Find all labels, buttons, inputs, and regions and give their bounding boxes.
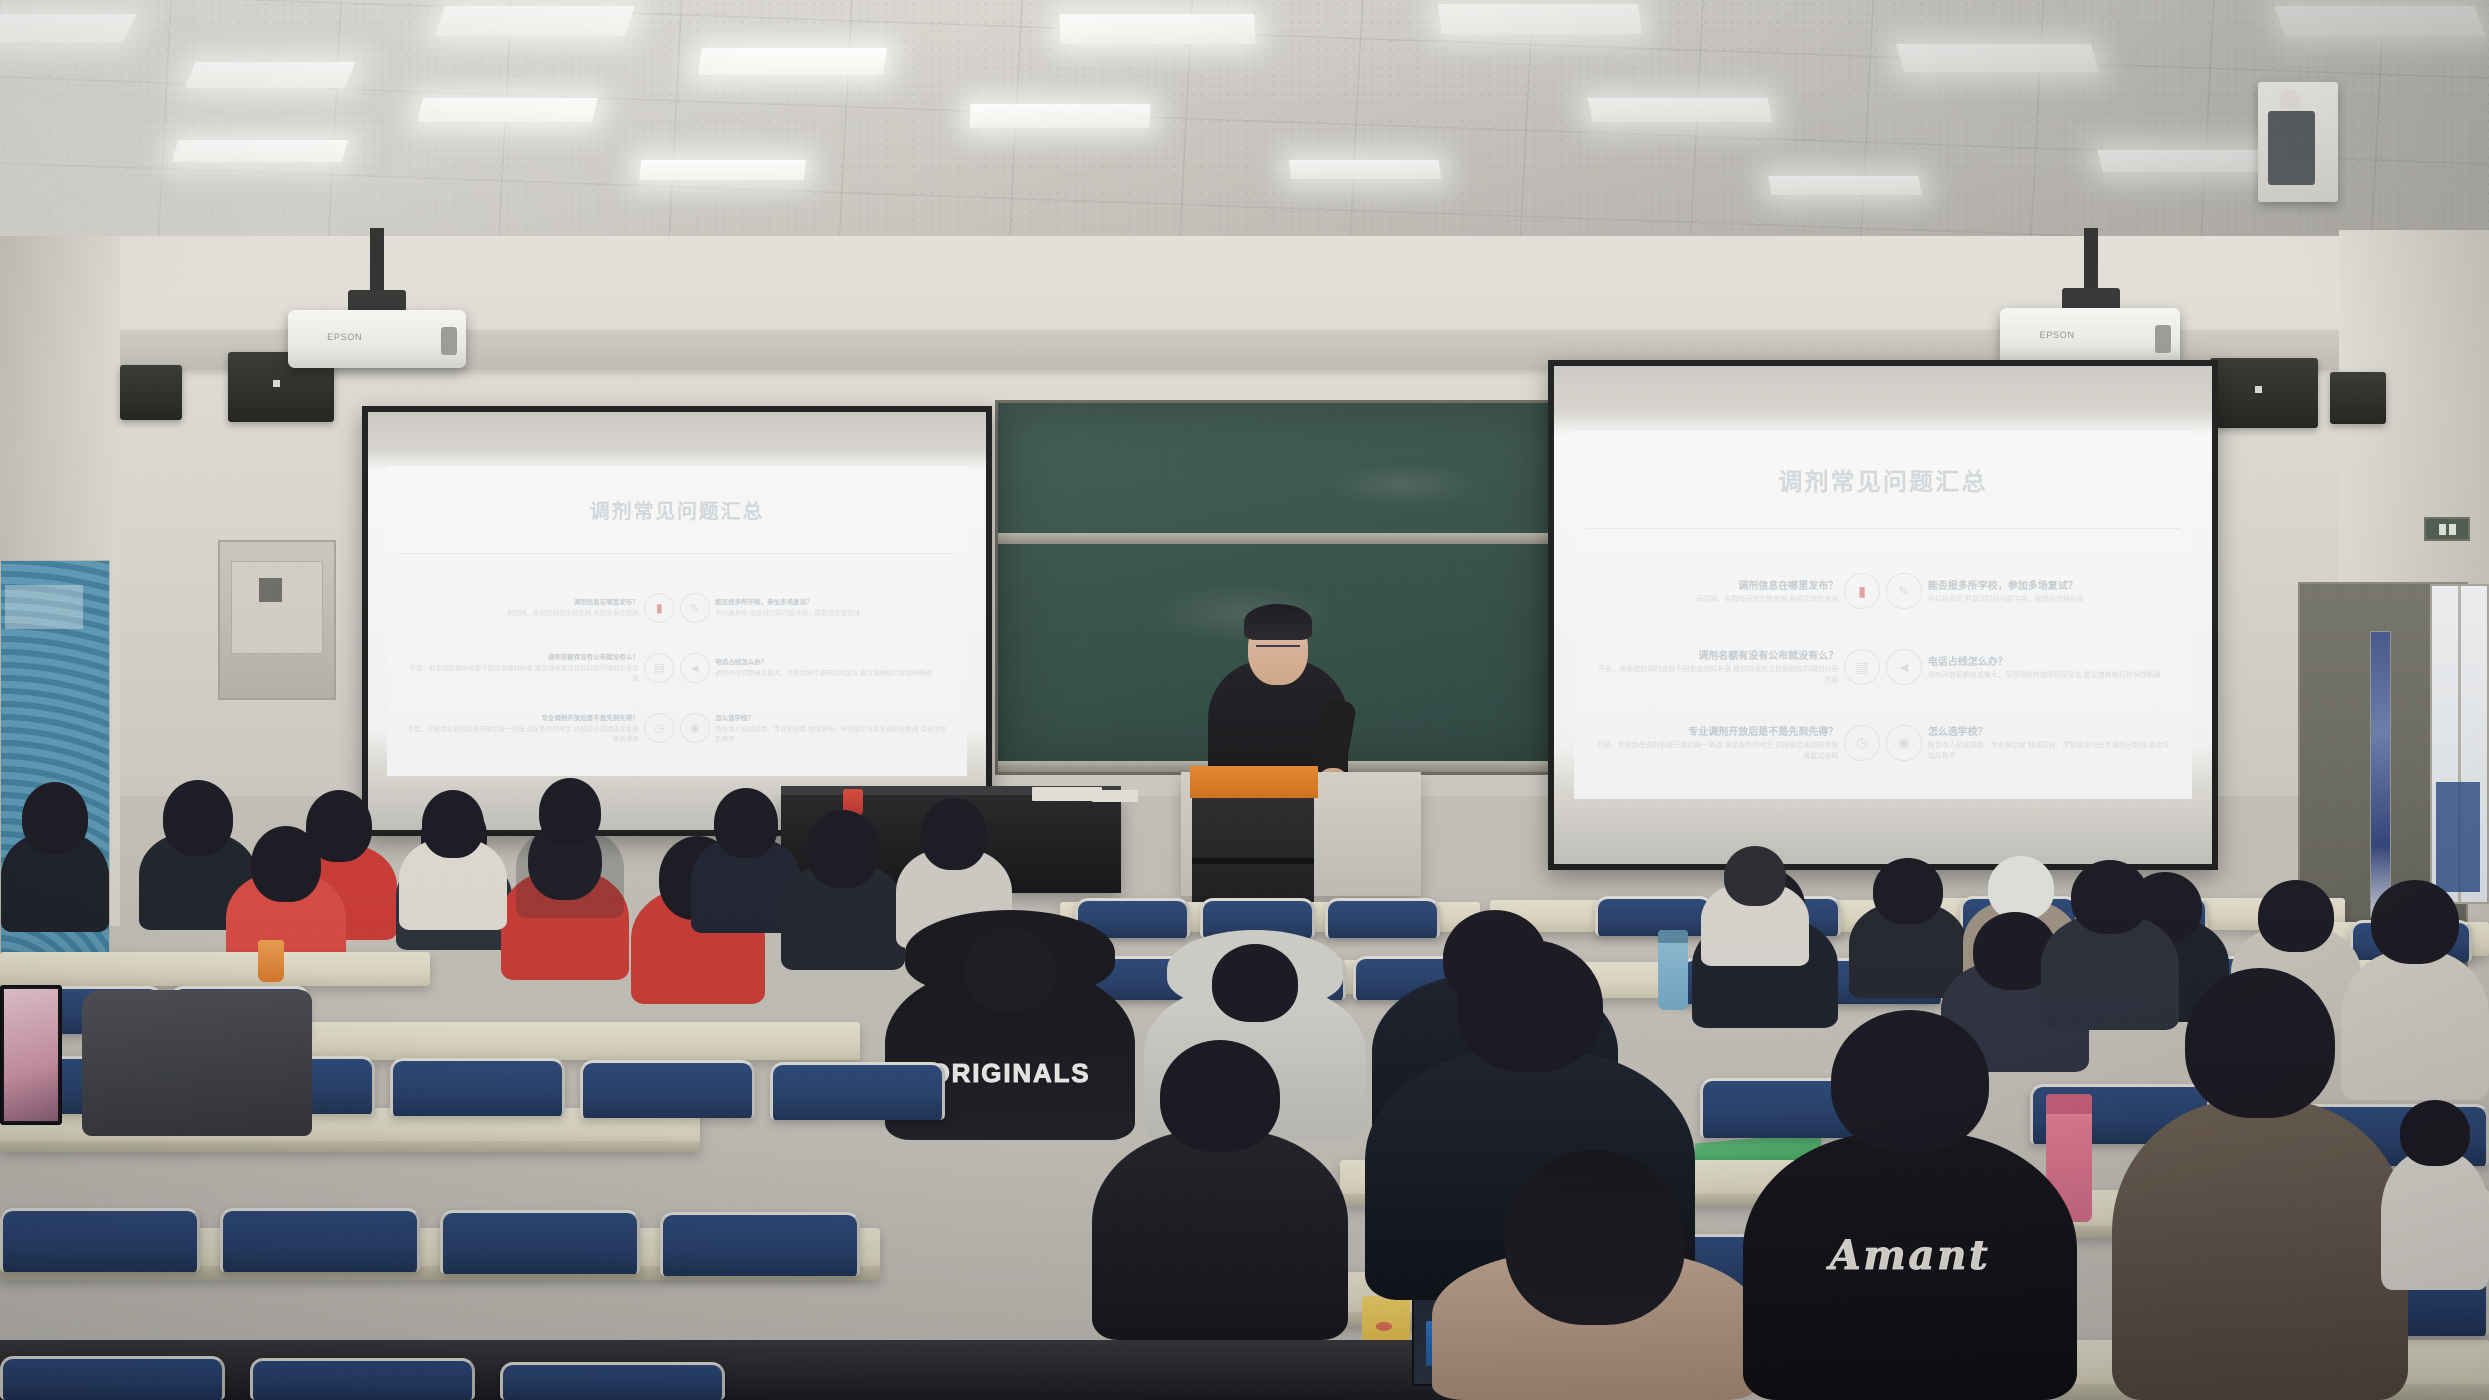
student-head xyxy=(22,782,88,854)
chair xyxy=(390,1058,565,1116)
projector-lens-icon xyxy=(441,327,457,355)
wall-speaker xyxy=(2330,372,2386,424)
tablet-screen xyxy=(4,989,58,1121)
speaker-led-icon xyxy=(2255,386,2262,393)
chalk-smudge xyxy=(1328,463,1478,507)
megaphone-icon: ◄ xyxy=(1886,649,1922,685)
question-title: 专业调剂开放后是不是先到先得？ xyxy=(404,712,639,722)
exit-sign xyxy=(2424,517,2470,541)
slide-left: 调剂常见问题汇总 调剂信息在哪里发布？ 研招网、各院校研究生院官网 各招生单位官… xyxy=(387,466,968,775)
clock-icon: ◷ xyxy=(644,713,674,743)
slide-question-grid: 调剂信息在哪里发布？ 研招网、各院校研究生院官网 各招生单位官网 ▮ ✎ 能否报… xyxy=(387,554,968,775)
student-head xyxy=(2185,968,2335,1118)
chalk-rail xyxy=(998,533,1552,544)
desk-edge xyxy=(0,1141,700,1152)
projector: EPSON xyxy=(2000,308,2180,366)
student-head xyxy=(1457,940,1603,1072)
chair xyxy=(0,1208,200,1272)
student-head xyxy=(163,780,233,856)
window-blue-object xyxy=(2436,782,2480,892)
question-title: 调剂信息在哪里发布？ xyxy=(1592,577,1838,592)
question-answer: 不是，学校会在调剂系统开放后统一筛选 满足条件的考生 并按综合成绩排序发放复试通… xyxy=(1592,741,1838,763)
question-answer: 不是，学校会在调剂系统开放后统一筛选 满足条件的考生 并按综合成绩排序发放复试通… xyxy=(404,725,639,745)
student xyxy=(1700,846,1810,966)
backpack xyxy=(82,990,312,1136)
presenter-glasses-icon xyxy=(1256,645,1300,647)
student-head xyxy=(251,826,321,902)
slide-question-item: 怎么选学校？ 结合本人初试成绩、专业契合度 地域意向、学校层次与往年调剂分数线 … xyxy=(715,712,950,745)
speech-icon: ✎ xyxy=(1886,573,1922,609)
projection-screen-left: 调剂常见问题汇总 调剂信息在哪里发布？ 研招网、各院校研究生院官网 各招生单位官… xyxy=(362,406,992,836)
question-answer: 调剂开放初期电话量大，可改用邮件或研招网留言 建议错峰拨打并保持畅通 xyxy=(715,669,950,679)
student-head xyxy=(2400,1100,2470,1166)
slide-question-item: 专业调剂开放后是不是先到先得？ 不是，学校会在调剂系统开放后统一筛选 满足条件的… xyxy=(1592,723,1838,763)
student-head xyxy=(1160,1040,1280,1152)
projector-lens-icon xyxy=(2155,325,2171,353)
student xyxy=(398,790,508,930)
chair xyxy=(250,1358,475,1400)
student-head xyxy=(964,928,1056,1012)
chair xyxy=(500,1362,725,1400)
student xyxy=(2040,860,2180,1030)
book-icon: ▤ xyxy=(644,653,674,683)
projector: EPSON xyxy=(288,310,466,368)
clock-icon: ◷ xyxy=(1844,725,1880,761)
slide-question-item: 调剂信息在哪里发布？ 研招网、各院校研究生院官网 各招生单位官网 xyxy=(1592,577,1838,606)
projector-mount-bracket xyxy=(2062,288,2120,310)
slide-question-grid: 调剂信息在哪里发布？ 研招网、各院校研究生院官网 各招生单位官网 ▮ ✎ 能否报… xyxy=(1574,529,2193,800)
slide-question-item: 电话占线怎么办？ 调剂开放初期电话量大，可改用邮件或研招网留言 建议错峰拨打并保… xyxy=(715,656,950,679)
slide-right: 调剂常见问题汇总 调剂信息在哪里发布？ 研招网、各院校研究生院官网 各招生单位官… xyxy=(1574,431,2193,800)
podium-accent-panel xyxy=(1190,766,1318,798)
question-title: 电话占线怎么办？ xyxy=(1928,653,2174,668)
podium-slot xyxy=(1192,858,1314,864)
projector-mount-pole xyxy=(2084,228,2098,294)
question-title: 能否报多所学校，参加多场复试？ xyxy=(715,596,950,606)
ceiling-camera xyxy=(2258,82,2338,202)
slide-question-item: 专业调剂开放后是不是先到先得？ 不是，学校会在调剂系统开放后统一筛选 满足条件的… xyxy=(404,712,639,745)
student xyxy=(515,778,625,918)
door-glass-panel xyxy=(2370,631,2392,918)
panel-inner xyxy=(231,561,322,655)
chair xyxy=(0,1356,225,1400)
projector-mount-pole xyxy=(370,228,384,296)
student-head xyxy=(1212,944,1298,1022)
student-head xyxy=(2071,860,2149,934)
screen-surface-right: 调剂常见问题汇总 调剂信息在哪里发布？ 研招网、各院校研究生院官网 各招生单位官… xyxy=(1554,366,2212,864)
slide-title: 调剂常见问题汇总 xyxy=(387,495,968,524)
snack-dot-icon xyxy=(1376,1322,1392,1331)
student xyxy=(2380,1100,2489,1290)
question-title: 电话占线怎么办？ xyxy=(715,656,950,666)
wall-speaker xyxy=(120,365,182,420)
question-answer: 不是，很多院校调剂名额不固定会随时补录 建议持续关注目标院校的调剂公告信息 xyxy=(404,664,639,684)
garment-text-originals: ORIGINALS xyxy=(930,1058,1091,1089)
panel-switch-icon xyxy=(259,578,282,602)
garment-text-amant: Amant xyxy=(1830,1232,1991,1279)
question-answer: 结合本人初试成绩、专业契合度 地域意向、学校层次与往年调剂分数线 综合评估后报考 xyxy=(1928,741,2174,763)
slide-question-item: 能否报多所学校，参加多场复试？ 可以报多所 但复试时间可能冲突，需提前合理安排 xyxy=(1928,577,2174,606)
student-torso xyxy=(2341,950,2489,1100)
chart-icon: ▮ xyxy=(644,593,674,623)
slide-question-item: 怎么选学校？ 结合本人初试成绩、专业契合度 地域意向、学校层次与往年调剂分数线 … xyxy=(1928,723,2174,763)
yellow-snack-box xyxy=(1362,1296,1410,1340)
student-head xyxy=(2258,880,2334,952)
student xyxy=(0,782,110,932)
student-head xyxy=(1505,1150,1685,1325)
question-title: 怎么选学校？ xyxy=(715,712,950,722)
podium-front-panel xyxy=(1192,798,1314,902)
exit-glyph-icon xyxy=(2449,524,2456,535)
question-answer: 结合本人初试成绩、专业契合度 地域意向、学校层次与往年调剂分数线 综合评估后报考 xyxy=(715,725,950,745)
ceiling xyxy=(0,0,2489,250)
tablet-device[interactable] xyxy=(0,985,62,1125)
slide-question-item: 调剂名额有没有公布就没有么？ 不是，很多院校调剂名额不固定会随时补录 建议持续关… xyxy=(1592,647,1838,687)
chair xyxy=(770,1062,945,1120)
student-head xyxy=(1831,1010,1989,1152)
right-window xyxy=(2430,584,2489,904)
student xyxy=(1090,1040,1350,1340)
chair xyxy=(580,1060,755,1118)
presenter-hair xyxy=(1244,604,1312,640)
speech-icon: ✎ xyxy=(680,593,710,623)
desk-row xyxy=(0,952,430,986)
slide-question-item: 能否报多所学校，参加多场复试？ 可以报多所 但复试时间可能冲突，需提前合理安排 xyxy=(715,596,950,619)
student-head xyxy=(921,798,987,870)
pin-icon: ◉ xyxy=(680,713,710,743)
question-answer: 研招网、各院校研究生院官网 各招生单位官网 xyxy=(1592,595,1838,606)
megaphone-icon: ◄ xyxy=(680,653,710,683)
slide-question-item: 调剂名额有没有公布就没有么？ 不是，很多院校调剂名额不固定会随时补录 建议持续关… xyxy=(404,651,639,684)
ceiling-shading xyxy=(0,0,2489,250)
question-title: 调剂名额有没有公布就没有么？ xyxy=(404,651,639,661)
student-head xyxy=(2371,880,2459,964)
student-head xyxy=(1724,846,1786,906)
student-torso xyxy=(2381,1150,2489,1290)
question-title: 调剂信息在哪里发布？ xyxy=(404,596,639,606)
orange-cup xyxy=(258,940,284,982)
question-answer: 可以报多所 但复试时间可能冲突，需提前合理安排 xyxy=(715,609,950,619)
slide-title: 调剂常见问题汇总 xyxy=(1574,462,2193,497)
student-ponytail xyxy=(1430,1150,1760,1400)
wall-utility-panel xyxy=(218,540,336,700)
chair xyxy=(440,1210,640,1274)
student-head xyxy=(539,778,601,846)
chair xyxy=(220,1208,420,1272)
student-head xyxy=(422,790,484,858)
wall-speaker xyxy=(2210,358,2318,428)
question-answer: 调剂开放初期电话量大，可改用邮件或研招网留言 建议错峰拨打并保持畅通 xyxy=(1928,671,2174,682)
projector-brand-label: EPSON xyxy=(2040,330,2075,340)
pin-icon: ◉ xyxy=(1886,725,1922,761)
projector-mount-bracket xyxy=(348,290,406,312)
speaker-led-icon xyxy=(273,380,280,387)
student-head xyxy=(1873,858,1943,924)
book-icon: ▤ xyxy=(1844,649,1880,685)
student-amant: Amant xyxy=(1740,1010,2080,1400)
camera-lens-icon xyxy=(2268,111,2314,185)
chart-icon: ▮ xyxy=(1844,573,1880,609)
student xyxy=(2340,880,2489,1100)
question-answer: 可以报多所 但复试时间可能冲突，需提前合理安排 xyxy=(1928,595,2174,606)
student-torso xyxy=(1092,1130,1348,1340)
question-title: 专业调剂开放后是不是先到先得？ xyxy=(1592,723,1838,738)
question-answer: 不是，很多院校调剂名额不固定会随时补录 建议持续关注目标院校的调剂公告信息 xyxy=(1592,665,1838,687)
student-head xyxy=(714,788,778,858)
desk-row xyxy=(300,1022,860,1060)
exit-glyph-icon xyxy=(2439,524,2446,535)
slide-question-item: 调剂信息在哪里发布？ 研招网、各院校研究生院官网 各招生单位官网 xyxy=(404,596,639,619)
question-title: 能否报多所学校，参加多场复试？ xyxy=(1928,577,2174,592)
projection-screen-right: 调剂常见问题汇总 调剂信息在哪里发布？ 研招网、各院校研究生院官网 各招生单位官… xyxy=(1548,360,2218,870)
question-title: 调剂名额有没有公布就没有么？ xyxy=(1592,647,1838,662)
poster-band xyxy=(5,585,83,629)
question-answer: 研招网、各院校研究生院官网 各招生单位官网 xyxy=(404,609,639,619)
student-head xyxy=(807,810,879,888)
screen-surface-left: 调剂常见问题汇总 调剂信息在哪里发布？ 研招网、各院校研究生院官网 各招生单位官… xyxy=(368,412,986,830)
question-title: 怎么选学校？ xyxy=(1928,723,2174,738)
lecture-hall-photo: EPSON EPSON 调剂常见问题汇总 调剂信息在哪里发布？ 研招网、各院校研… xyxy=(0,0,2489,1400)
chair xyxy=(660,1212,860,1276)
student-torso xyxy=(2112,1100,2408,1400)
white-papers xyxy=(1092,790,1138,802)
projector-brand-label: EPSON xyxy=(327,332,362,342)
slide-question-item: 电话占线怎么办？ 调剂开放初期电话量大，可改用邮件或研招网留言 建议错峰拨打并保… xyxy=(1928,653,2174,682)
desk-underside xyxy=(0,1340,1500,1400)
